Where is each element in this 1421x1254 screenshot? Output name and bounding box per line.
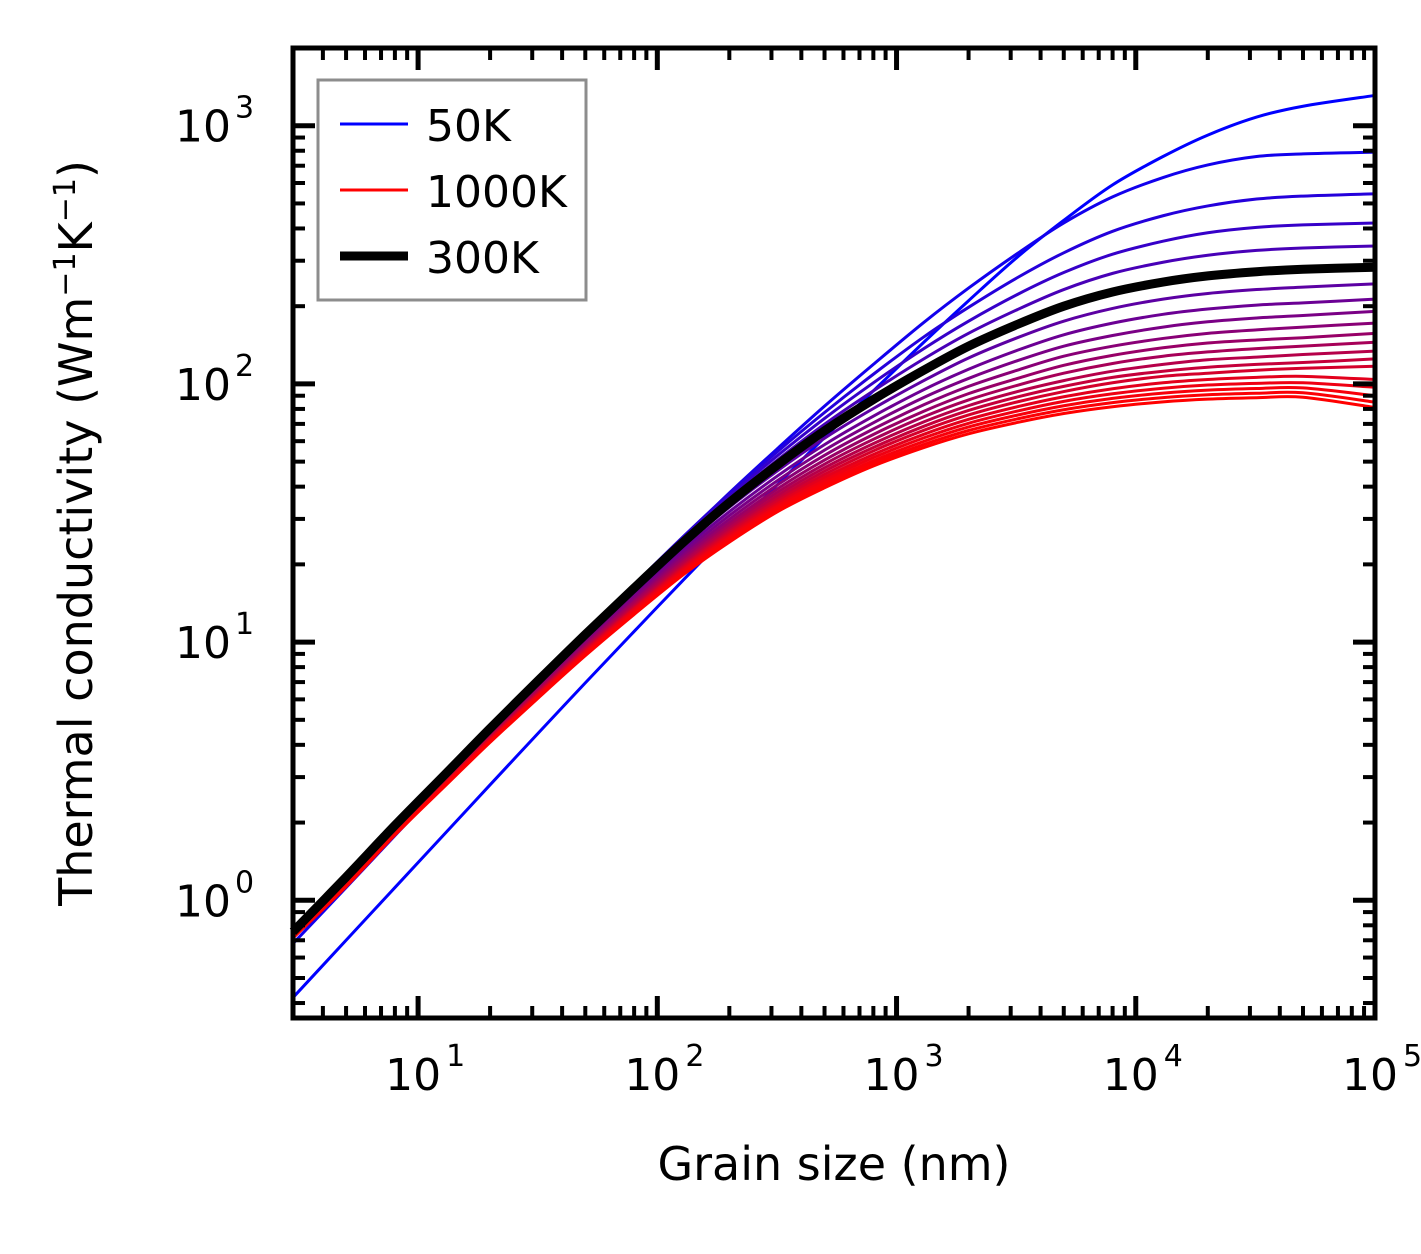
x-tick-label: 105	[1342, 1039, 1421, 1101]
y-axis-title: Thermal conductivity (Wm−1K−1)	[48, 160, 104, 907]
x-axis-tick-labels: 101102103104105	[385, 1039, 1421, 1101]
svg-text:0: 0	[235, 865, 254, 900]
svg-text:10: 10	[385, 1050, 441, 1101]
curve-200K	[293, 223, 1375, 934]
svg-text:1: 1	[446, 1039, 465, 1074]
thermal-conductivity-chart: 101102103104105 100101102103 50K1000K300…	[0, 0, 1421, 1254]
svg-text:Thermal conductivity (Wm−1K−1): Thermal conductivity (Wm−1K−1)	[48, 160, 104, 907]
svg-text:10: 10	[1342, 1050, 1398, 1101]
figure-canvas: 101102103104105 100101102103 50K1000K300…	[0, 0, 1421, 1254]
curve-150K	[293, 194, 1375, 937]
x-tick-label: 103	[864, 1039, 944, 1101]
svg-text:10: 10	[1103, 1050, 1159, 1101]
x-tick-label: 104	[1103, 1039, 1183, 1101]
x-tick-label: 101	[385, 1039, 465, 1101]
y-tick-label: 100	[175, 865, 254, 927]
svg-text:10: 10	[175, 102, 231, 153]
svg-text:10: 10	[624, 1050, 680, 1101]
svg-text:2: 2	[235, 349, 254, 384]
x-axis-title: Grain size (nm)	[658, 1137, 1011, 1191]
y-tick-label: 102	[175, 349, 254, 411]
curve-500K	[293, 323, 1375, 934]
svg-text:10: 10	[175, 876, 231, 927]
curve-350K	[293, 284, 1375, 932]
svg-text:4: 4	[1164, 1039, 1183, 1074]
chart-legend[interactable]: 50K1000K300K	[318, 80, 586, 300]
svg-text:10: 10	[175, 360, 231, 411]
curve-750K	[293, 366, 1375, 936]
svg-text:1: 1	[235, 607, 254, 642]
svg-text:10: 10	[864, 1050, 920, 1101]
svg-text:3: 3	[235, 91, 254, 126]
legend-label-1000K: 1000K	[426, 167, 568, 218]
legend-label-50K: 50K	[426, 101, 512, 152]
svg-text:5: 5	[1403, 1039, 1421, 1074]
y-axis-tick-labels: 100101102103	[175, 91, 254, 928]
svg-text:2: 2	[685, 1039, 704, 1074]
curve-250K	[293, 246, 1375, 933]
x-tick-label: 102	[624, 1039, 704, 1101]
legend-label-300K: 300K	[426, 233, 540, 284]
svg-text:10: 10	[175, 618, 231, 669]
y-tick-label: 103	[175, 91, 254, 153]
svg-text:3: 3	[925, 1039, 944, 1074]
y-tick-label: 101	[175, 607, 254, 669]
axis-titles: Grain size (nm)Thermal conductivity (Wm−…	[48, 160, 1011, 1191]
